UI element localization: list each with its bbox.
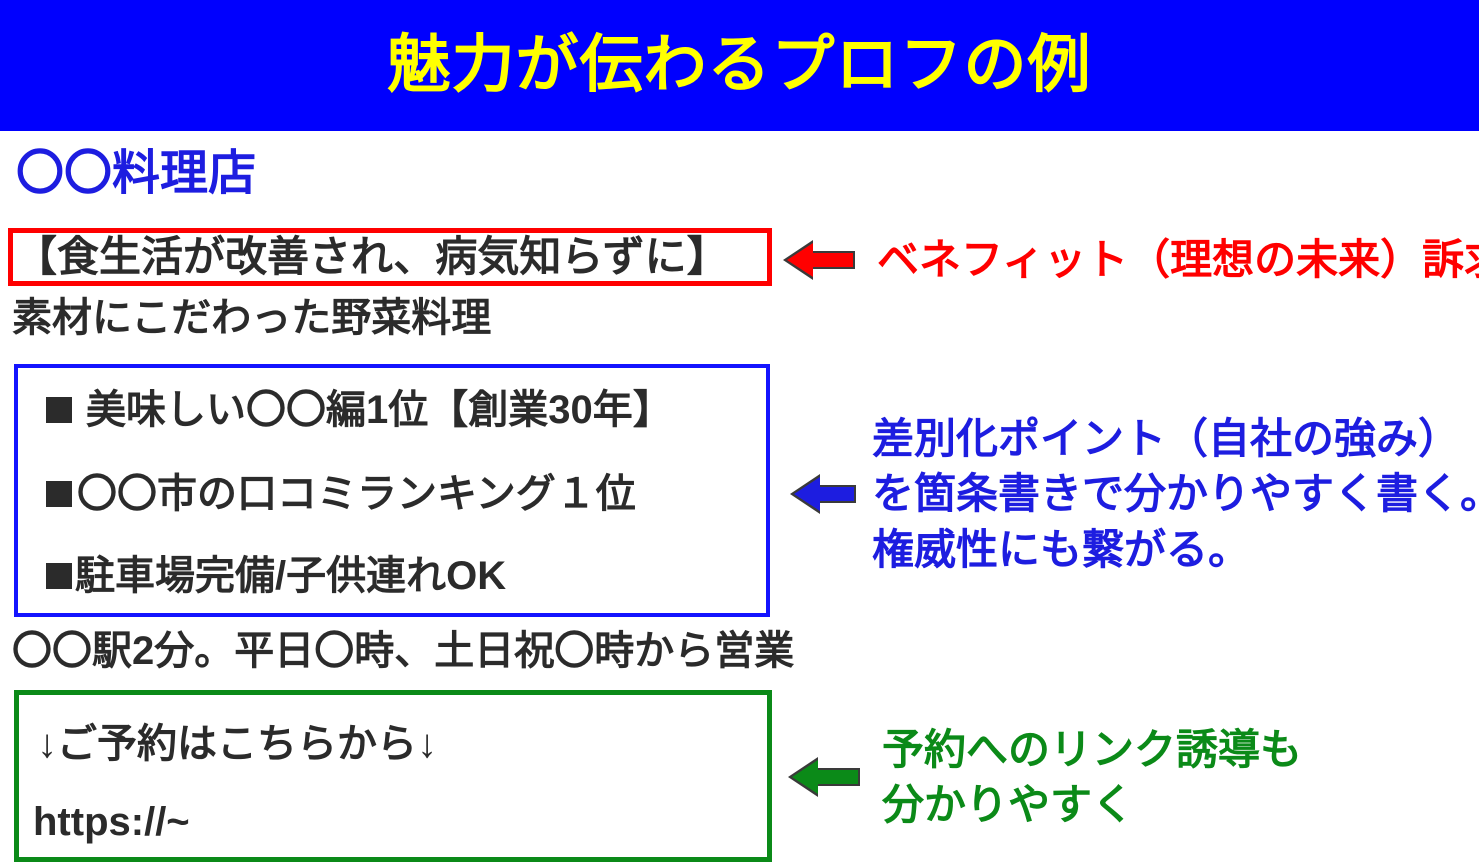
list-item-label: 〇〇市の口コミランキング１位 (77, 474, 636, 514)
list-item-label: 駐車場完備/子供連れOK (75, 556, 506, 596)
arrow-left-icon (788, 757, 860, 797)
annotation-line: 予約へのリンク誘導も (882, 722, 1302, 777)
cta-prompt: ↓ご予約はこちらから↓ (37, 724, 437, 764)
list-item-label: 美味しい〇〇編1位【創業30年】 (86, 390, 673, 430)
annotation-line: 差別化ポイント（自社の強み） (872, 411, 1479, 466)
annotation-cta: 予約へのリンク誘導も 分かりやすく (788, 712, 1302, 842)
header-band: 魅力が伝わるプロフの例 (0, 0, 1479, 131)
arrow-left-icon (790, 474, 856, 514)
annotation-cta-text: 予約へのリンク誘導も 分かりやすく (882, 722, 1302, 833)
annotation-benefit: ベネフィット（理想の未来）訴求 (783, 232, 1479, 288)
points-box: 美味しい〇〇編1位【創業30年】 〇〇市の口コミランキング１位 駐車場完備/子供… (14, 364, 770, 617)
page-title: 魅力が伝わるプロフの例 (388, 34, 1092, 97)
square-bullet-icon (46, 481, 72, 507)
arrow-left-icon (783, 240, 855, 280)
annotation-points-text: 差別化ポイント（自社の強み） を箇条書きで分かりやすく書く。 権威性にも繋がる。 (872, 411, 1479, 577)
list-item: 〇〇市の口コミランキング１位 (46, 474, 636, 514)
tagline: 素材にこだわった野菜料理 (12, 298, 491, 338)
profile-example-panel: 〇〇料理店 【食生活が改善され、病気知らずに】 素材にこだわった野菜料理 美味し… (0, 131, 790, 865)
cta-box: ↓ご予約はこちらから↓ https://~ (14, 690, 772, 862)
annotation-benefit-text: ベネフィット（理想の未来）訴求 (877, 232, 1479, 287)
annotation-line: 分かりやすく (882, 777, 1302, 832)
square-bullet-icon (46, 397, 72, 423)
annotation-points: 差別化ポイント（自社の強み） を箇条書きで分かりやすく書く。 権威性にも繋がる。 (790, 388, 1479, 600)
cta-url[interactable]: https://~ (33, 802, 190, 842)
annotation-line: 権威性にも繋がる。 (872, 522, 1479, 577)
shop-name: 〇〇料理店 (16, 149, 256, 199)
annotation-line: ベネフィット（理想の未来）訴求 (877, 232, 1479, 287)
list-item: 美味しい〇〇編1位【創業30年】 (46, 390, 673, 430)
slide-root: 魅力が伝わるプロフの例 〇〇料理店 【食生活が改善され、病気知らずに】 素材にこ… (0, 0, 1479, 865)
square-bullet-icon (46, 563, 72, 589)
access-info: 〇〇駅2分。平日〇時、土日祝〇時から営業 (12, 631, 794, 671)
list-item: 駐車場完備/子供連れOK (46, 556, 506, 596)
benefit-text: 【食生活が改善され、病気知らずに】 (15, 236, 729, 278)
annotation-line: を箇条書きで分かりやすく書く。 (872, 466, 1479, 521)
benefit-box: 【食生活が改善され、病気知らずに】 (8, 228, 772, 286)
